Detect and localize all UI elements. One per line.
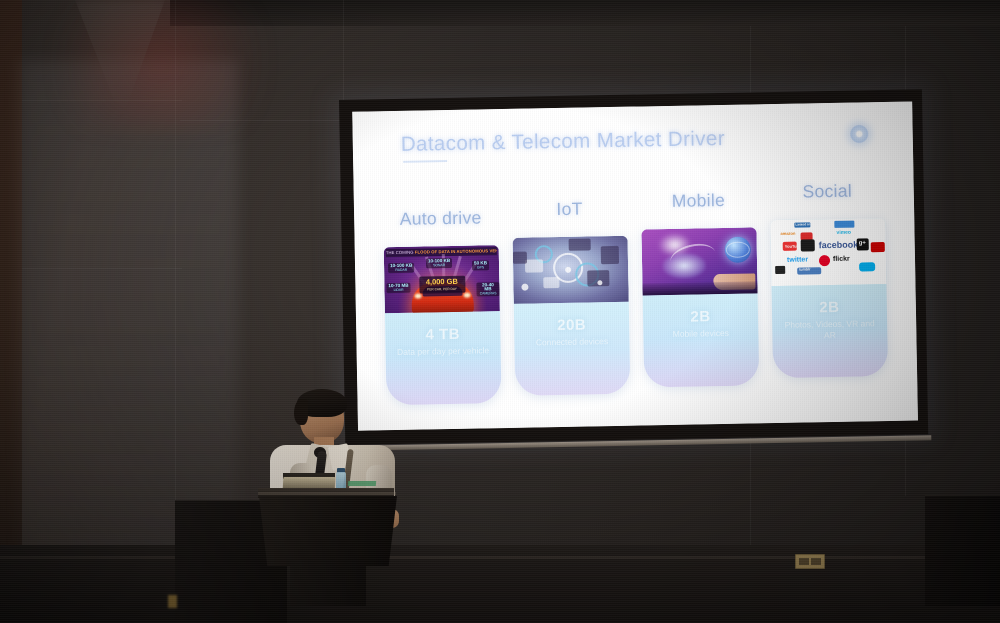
card-caption-text: Data per day per vehicle (386, 345, 501, 358)
projection-screen: Datacom & Telecom Market Driver Auto dri… (339, 89, 928, 445)
wall-seam (22, 268, 182, 269)
wall-seam (180, 120, 345, 121)
card-stat: 2B (772, 297, 887, 316)
presentation-slide: Datacom & Telecom Market Driver Auto dri… (352, 101, 918, 430)
infographic-tag: 10-100 KBRADAR (388, 262, 414, 272)
podium-base (290, 560, 366, 606)
podium-body (259, 496, 397, 566)
infographic-tag: 10-70 MBLIDAR (386, 282, 410, 292)
card-caption-text: Connected devices (514, 335, 629, 348)
podium-edge (258, 492, 396, 495)
slide-column-auto-drive: Auto drive THE COMING FLOOD OF DATA IN A… (376, 187, 509, 414)
infographic-tag: 10-100 KBSONAR (426, 257, 452, 267)
slide-column-social: Social Linked in amazon vimeo (763, 180, 896, 407)
slide-columns: Auto drive THE COMING FLOOD OF DATA IN A… (376, 180, 896, 414)
infographic-tag: 20-40 MBCAMERAS (476, 282, 499, 296)
infographic-tag: 50 KBGPS (472, 260, 489, 270)
stat-card: 20B Connected devices (513, 235, 631, 395)
infographic-headline-value: 4,000 GB PER CAR, PER DAY (419, 275, 465, 293)
column-label: IoT (556, 201, 583, 219)
power-socket (795, 554, 825, 569)
wall-seam (343, 0, 344, 110)
wall-seam (22, 100, 182, 101)
ceiling-band (170, 0, 1000, 26)
column-label: Mobile (672, 192, 726, 210)
loudspeaker-right (925, 495, 1000, 606)
stat-card: 2B Mobile devices (641, 227, 759, 387)
column-label: Auto drive (400, 209, 482, 228)
column-label: Social (802, 183, 852, 201)
wall-seam (175, 0, 176, 560)
slide-title-underline (403, 160, 447, 163)
card-stat: 2B (643, 307, 758, 326)
screen-surface: Datacom & Telecom Market Driver Auto dri… (352, 101, 918, 430)
presenter-hair-side (294, 399, 308, 425)
card-stat: 20B (514, 315, 629, 334)
green-paper (348, 481, 376, 486)
card-image-autonomous-car: THE COMING FLOOD OF DATA IN AUTONOMOUS V… (384, 245, 500, 313)
slide-column-iot: IoT (505, 185, 638, 412)
card-image-social-logos: Linked in amazon vimeo YouTube facebook (770, 218, 886, 286)
card-caption-text: Mobile devices (643, 327, 758, 340)
card-image-mobile-globe (641, 227, 757, 295)
conference-room-photo: Datacom & Telecom Market Driver Auto dri… (0, 0, 1000, 623)
card-caption: 2B Photos, Videos, VR and AR (772, 297, 888, 341)
globe-icon (725, 236, 751, 262)
stat-card: Linked in amazon vimeo YouTube facebook (770, 218, 888, 378)
card-stat: 4 TB (385, 325, 500, 344)
slide-column-mobile: Mobile (634, 182, 767, 409)
card-caption: 2B Mobile devices (643, 307, 759, 340)
slide-title: Datacom & Telecom Market Driver (401, 127, 726, 157)
card-caption: 4 TB Data per day per vehicle (385, 325, 501, 358)
floor-light-spot (168, 595, 177, 608)
card-image-iot-devices (513, 235, 629, 303)
stat-card: THE COMING FLOOD OF DATA IN AUTONOMOUS V… (384, 245, 502, 405)
floor-edge-strip (0, 556, 1000, 559)
card-caption-text: Photos, Videos, VR and AR (772, 317, 887, 341)
card-caption: 20B Connected devices (514, 315, 630, 348)
circle-logo-icon (850, 124, 869, 143)
